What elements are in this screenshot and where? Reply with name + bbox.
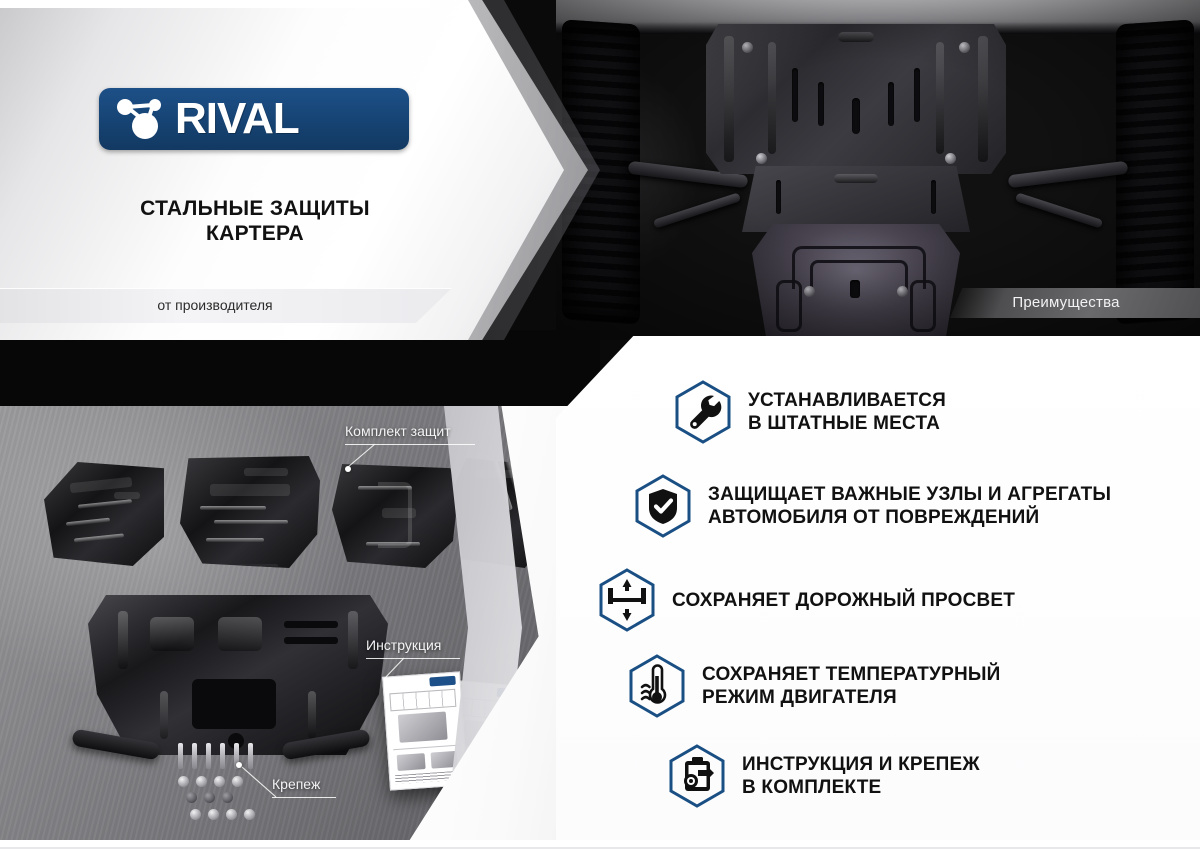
- advantages-label: Преимущества: [966, 290, 1166, 316]
- feature-text-4: ИНСТРУКЦИЯ И КРЕПЕЖ В КОМПЛЕКТЕ: [742, 753, 980, 799]
- main-skid-plate: [88, 595, 388, 755]
- feature-row-2[interactable]: СОХРАНЯЕТ ДОРОЖНЫЙ ПРОСВЕТ: [598, 568, 1015, 632]
- feature-text-3: СОХРАНЯЕТ ТЕМПЕРАТУРНЫЙ РЕЖИМ ДВИГАТЕЛЯ: [702, 663, 1001, 709]
- label-kit-leader: [320, 443, 380, 469]
- feature-row-3[interactable]: СОХРАНЯЕТ ТЕМПЕРАТУРНЫЙ РЕЖИМ ДВИГАТЕЛЯ: [628, 654, 1001, 718]
- feature-row-4[interactable]: ИНСТРУКЦИЯ И КРЕПЕЖ В КОМПЛЕКТЕ: [668, 744, 980, 808]
- rival-logo: RIVAL: [99, 88, 409, 150]
- wrench-icon: [674, 380, 732, 444]
- label-hardware-dot: [236, 762, 242, 768]
- page-title-line1: СТАЛЬНЫЕ ЗАЩИТЫ: [60, 196, 450, 221]
- hero-top-white-line: [0, 0, 430, 8]
- feature-row-0[interactable]: УСТАНАВЛИВАЕТСЯ В ШТАТНЫЕ МЕСТА: [674, 380, 946, 444]
- label-instruction: Инструкция: [366, 637, 441, 653]
- molecule-icon: [113, 96, 173, 143]
- feature-text-2: СОХРАНЯЕТ ДОРОЖНЫЙ ПРОСВЕТ: [672, 589, 1015, 612]
- poster-canvas: Преимущества RIVAL СТАЛЬНЫЕ ЗАЩИТЫ КАРТЕ…: [0, 0, 1200, 849]
- skid-plate-2: [180, 456, 320, 568]
- thermometer-icon: [628, 654, 686, 718]
- feature-text-0: УСТАНАВЛИВАЕТСЯ В ШТАТНЫЕ МЕСТА: [748, 389, 946, 435]
- subtitle-text: от производителя: [0, 288, 430, 322]
- logo-wordmark: RIVAL: [175, 93, 399, 146]
- feature-text-1: ЗАЩИЩАЕТ ВАЖНЫЕ УЗЛЫ И АГРЕГАТЫ АВТОМОБИ…: [708, 483, 1111, 529]
- label-hardware-leader: [236, 765, 282, 799]
- label-instruction-leader: [368, 657, 408, 681]
- clipboard-bolt-icon: [668, 744, 726, 808]
- shield-check-icon: [634, 474, 692, 538]
- page-title-line2: КАРТЕРА: [60, 221, 450, 246]
- ground-clearance-icon: [598, 568, 656, 632]
- label-kit-dot: [345, 466, 351, 472]
- features-panel: УСТАНАВЛИВАЕТСЯ В ШТАТНЫЕ МЕСТА ЗАЩИЩАЕТ…: [556, 336, 1200, 849]
- sheet-logo-icon-2: [429, 676, 456, 687]
- page-title: СТАЛЬНЫЕ ЗАЩИТЫ КАРТЕРА: [60, 196, 450, 246]
- feature-row-1[interactable]: ЗАЩИЩАЕТ ВАЖНЫЕ УЗЛЫ И АГРЕГАТЫ АВТОМОБИ…: [634, 474, 1111, 538]
- dark-divider-band: [0, 330, 600, 408]
- skid-plate-3: [332, 464, 458, 568]
- label-kit: Комплект защит: [345, 423, 451, 439]
